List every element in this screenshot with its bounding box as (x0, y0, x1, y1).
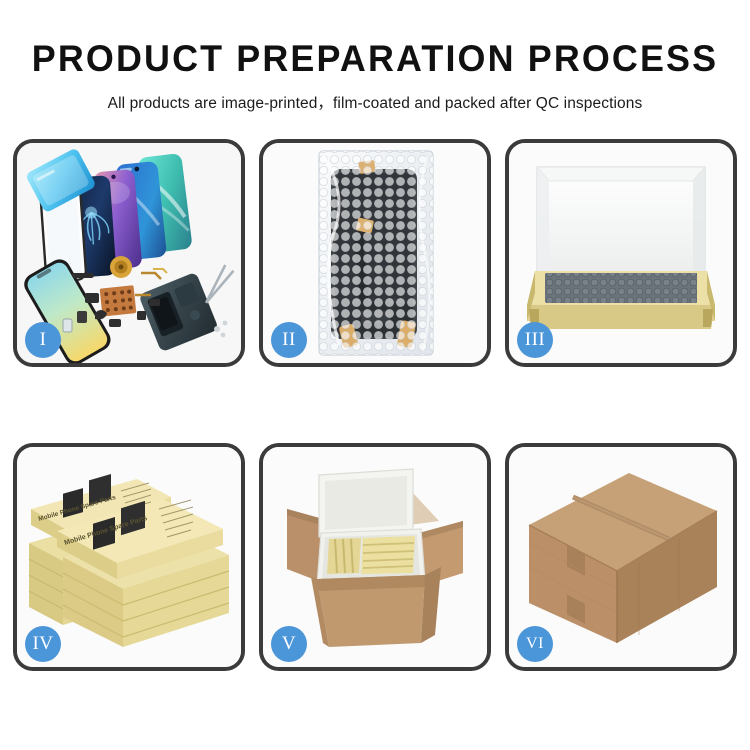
step-badge-3: III (517, 322, 553, 358)
process-grid: I (13, 139, 737, 671)
process-card-1: I (13, 139, 245, 367)
header: PRODUCT PREPARATION PROCESS All products… (0, 0, 750, 113)
process-card-5: V (259, 443, 491, 671)
step-badge-4: IV (25, 626, 61, 662)
process-card-6: VI (505, 443, 737, 671)
process-card-2: II (259, 139, 491, 367)
step-badge-5: V (271, 626, 307, 662)
process-card-3: III (505, 139, 737, 367)
step-badge-1: I (25, 322, 61, 358)
page-subtitle: All products are image-printed，film-coat… (0, 91, 750, 113)
step-badge-2: II (271, 322, 307, 358)
page-title: PRODUCT PREPARATION PROCESS (11, 40, 739, 77)
step-badge-6: VI (517, 626, 553, 662)
process-card-4: Mobile Phone Spare Parts (13, 443, 245, 671)
product-process-infographic: PRODUCT PREPARATION PROCESS All products… (0, 0, 750, 750)
